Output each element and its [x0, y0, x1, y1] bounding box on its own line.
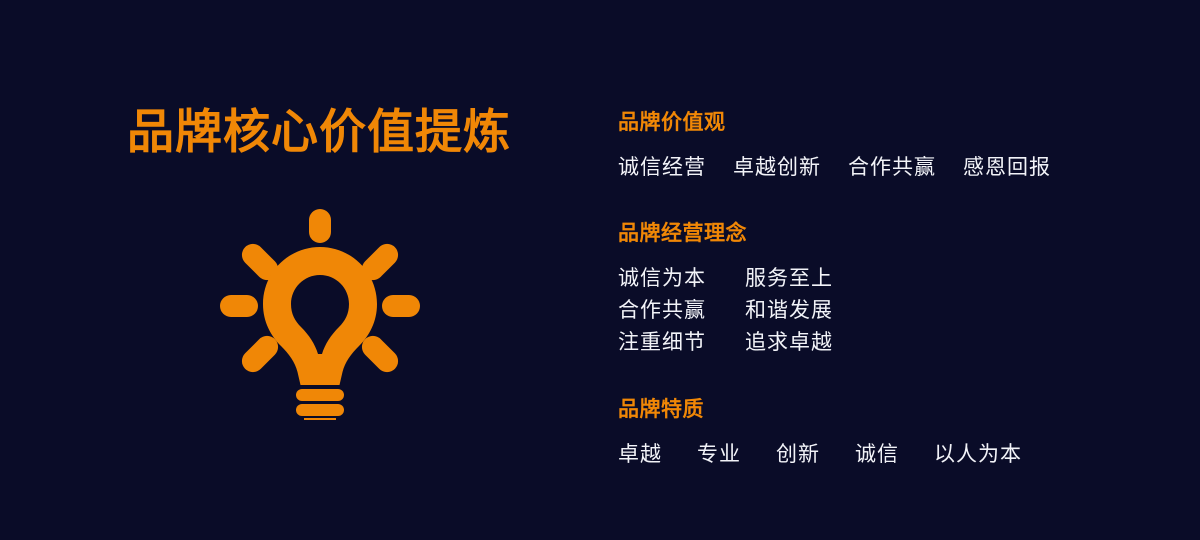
value-item: 诚信为本 — [618, 263, 745, 295]
lightbulb-icon — [214, 196, 426, 420]
section-heading: 品牌特质 — [618, 397, 1022, 423]
value-item: 诚信经营 — [618, 152, 706, 184]
right-panel: 品牌价值观 诚信经营 卓越创新 合作共赢 感恩回报 品牌经营理念 诚信为本 服务… — [618, 0, 1178, 540]
section-business-philosophy: 品牌经营理念 诚信为本 服务至上 合作共赢 和谐发展 注重细节 追求卓越 — [618, 221, 833, 359]
section-brand-values: 品牌价值观 诚信经营 卓越创新 合作共赢 感恩回报 — [618, 110, 1051, 184]
value-item: 创新 — [776, 439, 820, 471]
page-title: 品牌核心价值提炼 — [127, 107, 511, 156]
trait-item-list: 卓越 专业 创新 诚信 以人为本 — [618, 439, 1022, 471]
philosophy-item-grid: 诚信为本 服务至上 合作共赢 和谐发展 注重细节 追求卓越 — [618, 263, 833, 359]
value-item: 合作共赢 — [848, 152, 936, 184]
value-item: 诚信 — [855, 439, 899, 471]
left-panel: 品牌核心价值提炼 — [0, 0, 560, 540]
section-heading: 品牌价值观 — [618, 110, 1051, 136]
value-item: 卓越创新 — [733, 152, 821, 184]
value-item: 卓越 — [618, 439, 662, 471]
section-heading: 品牌经营理念 — [618, 221, 833, 247]
value-item: 以人为本 — [934, 439, 1022, 471]
value-item: 追求卓越 — [745, 327, 833, 359]
value-item: 感恩回报 — [963, 152, 1051, 184]
value-item: 专业 — [697, 439, 741, 471]
section-brand-traits: 品牌特质 卓越 专业 创新 诚信 以人为本 — [618, 397, 1022, 471]
value-item: 注重细节 — [618, 327, 745, 359]
value-item: 服务至上 — [745, 263, 833, 295]
value-item-list: 诚信经营 卓越创新 合作共赢 感恩回报 — [618, 152, 1051, 184]
slide-canvas: 品牌核心价值提炼 — [0, 0, 1200, 540]
value-item: 合作共赢 — [618, 295, 745, 327]
value-item: 和谐发展 — [745, 295, 833, 327]
